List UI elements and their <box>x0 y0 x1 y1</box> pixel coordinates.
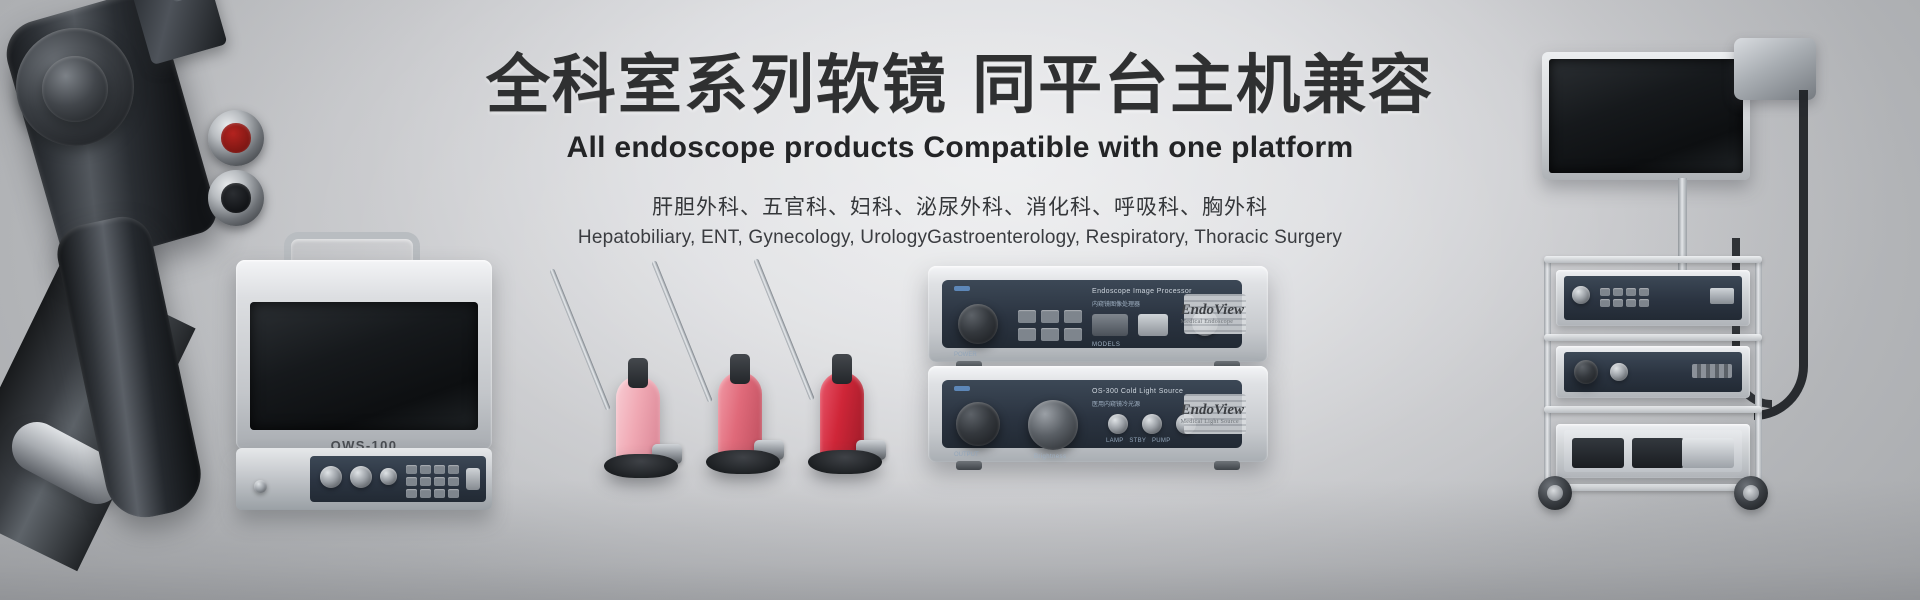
processor-port-labels: MODELS <box>1092 342 1120 348</box>
light-status-led <box>954 386 970 391</box>
video-port-3 <box>380 468 397 485</box>
cart-unit-top <box>1556 270 1750 326</box>
processor-button-panel <box>1092 314 1128 336</box>
processor-main-knob <box>958 304 998 344</box>
light-left-label: OUTPUT <box>954 452 979 458</box>
light-source-title-cn: 医用内窥镜冷光源 <box>1092 399 1140 408</box>
brightness-knob <box>1028 400 1078 450</box>
cart-unit-middle <box>1556 346 1750 398</box>
cart-upright-left <box>1544 256 1551 506</box>
cart-unit-top-panel <box>1564 276 1742 320</box>
brightness-knob-label: Brightness <box>1034 454 1066 460</box>
cart-top-keypad <box>1600 288 1649 307</box>
rigid-scope-red <box>800 248 910 480</box>
scope-neck <box>832 354 852 384</box>
cart-bottom-screen-1 <box>1572 438 1624 468</box>
scope-stand <box>706 450 780 474</box>
processor-title-en: Endoscope Image Processor <box>1092 288 1192 295</box>
light-btn-1 <box>1108 414 1128 434</box>
cart-unit-bottom <box>1556 424 1750 478</box>
light-source-port-knob <box>956 402 1000 446</box>
console-foot-right <box>1214 461 1240 470</box>
cart-bottom-panel-3 <box>1682 438 1734 468</box>
power-switch <box>466 468 480 490</box>
departments-chinese: 肝胆外科、五官科、妇科、泌尿外科、消化科、呼吸科、胸外科 <box>0 191 1920 221</box>
cart-caster-right <box>1734 476 1768 510</box>
processor-status-led <box>954 286 970 291</box>
processor-left-label: POWER <box>954 352 977 358</box>
video-port-2 <box>350 466 372 488</box>
page-title: 全科室系列软镜 同平台主机兼容 <box>0 52 1920 121</box>
light-source-title-en: OS-300 Cold Light Source <box>1092 388 1183 395</box>
light-source-console: OS-300 Cold Light Source 医用内窥镜冷光源 Bright… <box>928 366 1268 462</box>
cart-bottom-screen-2 <box>1632 438 1684 468</box>
light-source-brand: EndoView Medical Light Source <box>1181 402 1244 425</box>
cart-top-port <box>1572 286 1590 304</box>
light-btn-2 <box>1142 414 1162 434</box>
cart-unit-bottom-panel <box>1564 430 1742 472</box>
page-subtitle: All endoscope products Compatible with o… <box>0 131 1920 165</box>
scope-stand <box>808 450 882 474</box>
cart-unit-middle-panel <box>1564 352 1742 392</box>
cart-middle-buttons <box>1692 364 1732 378</box>
scope-neck <box>730 354 750 384</box>
departments-english: Hepatobiliary, ENT, Gynecology, UrologyG… <box>0 227 1920 249</box>
scope-shaft <box>549 268 611 411</box>
equipment-cart <box>1544 256 1762 506</box>
cart-top-display <box>1710 288 1734 304</box>
cart-shelf-3 <box>1544 406 1762 413</box>
processor-keypad <box>1018 310 1082 341</box>
cart-shelf-1 <box>1544 256 1762 263</box>
rigid-scope-rose <box>700 250 810 480</box>
image-processor-console: Endoscope Image Processor 内窥镜图像处理器 MODEL… <box>928 266 1268 362</box>
cart-caster-left <box>1538 476 1572 510</box>
processor-io-panel <box>310 456 486 502</box>
control-keypad <box>406 465 459 498</box>
processor-title-cn: 内窥镜图像处理器 <box>1092 299 1140 308</box>
scope-stand <box>604 454 678 478</box>
cart-shelf-4 <box>1544 484 1762 491</box>
cart-middle-port <box>1610 363 1628 381</box>
light-btn-labels: LAMP STBY PUMP <box>1106 438 1171 444</box>
processor-brand: EndoView Medical Endoscope <box>1181 302 1244 325</box>
scope-neck <box>628 358 648 388</box>
cart-middle-knob <box>1574 360 1598 384</box>
cart-upright-right <box>1755 256 1762 506</box>
console-foot-left <box>956 461 982 470</box>
banner-text-block: 全科室系列软镜 同平台主机兼容 All endoscope products C… <box>0 52 1920 249</box>
processor-usb-slot <box>1138 314 1168 336</box>
cart-shelf-2 <box>1544 334 1762 341</box>
promo-banner: OWS-100 EndoView <box>0 0 1920 600</box>
